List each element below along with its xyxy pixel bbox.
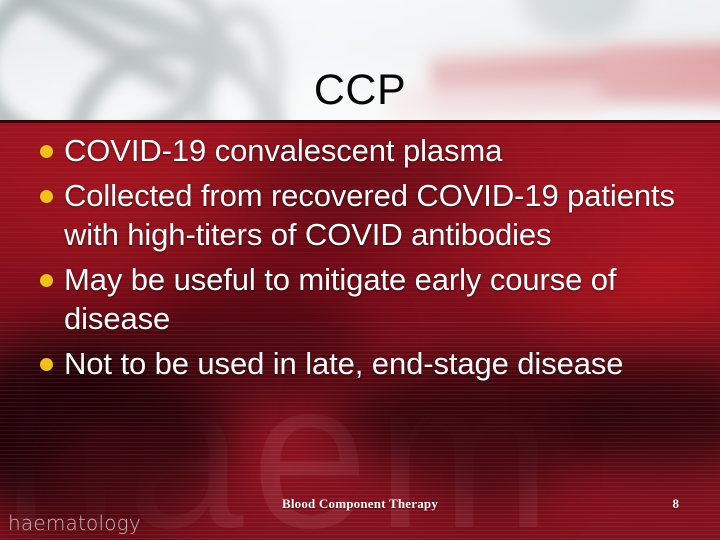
- list-item: Collected from recovered COVID-19 patien…: [0, 176, 720, 254]
- list-item: COVID-19 convalescent plasma: [0, 131, 720, 170]
- presentation-slide: CCP haem COVID-19 convalescent plasma Co…: [0, 0, 720, 540]
- list-item: May be useful to mitigate early course o…: [0, 260, 720, 338]
- slide-bullet-list: COVID-19 convalescent plasma Collected f…: [0, 122, 720, 383]
- bullet-dot-icon: [40, 274, 53, 287]
- footer-deck-title: Blood Component Therapy: [0, 496, 720, 512]
- bullet-dot-icon: [40, 358, 53, 371]
- slide-page-number: 8: [673, 496, 680, 512]
- list-item: Not to be used in late, end-stage diseas…: [0, 344, 720, 383]
- list-item-label: May be useful to mitigate early course o…: [64, 260, 702, 338]
- bullet-dot-icon: [40, 145, 53, 158]
- list-item-label: Not to be used in late, end-stage diseas…: [64, 344, 702, 383]
- list-item-label: Collected from recovered COVID-19 patien…: [64, 176, 702, 254]
- bullet-dot-icon: [40, 190, 53, 203]
- brand-watermark-label: haematology: [8, 511, 141, 535]
- list-item-label: COVID-19 convalescent plasma: [64, 131, 702, 170]
- slide-title: CCP: [0, 67, 720, 113]
